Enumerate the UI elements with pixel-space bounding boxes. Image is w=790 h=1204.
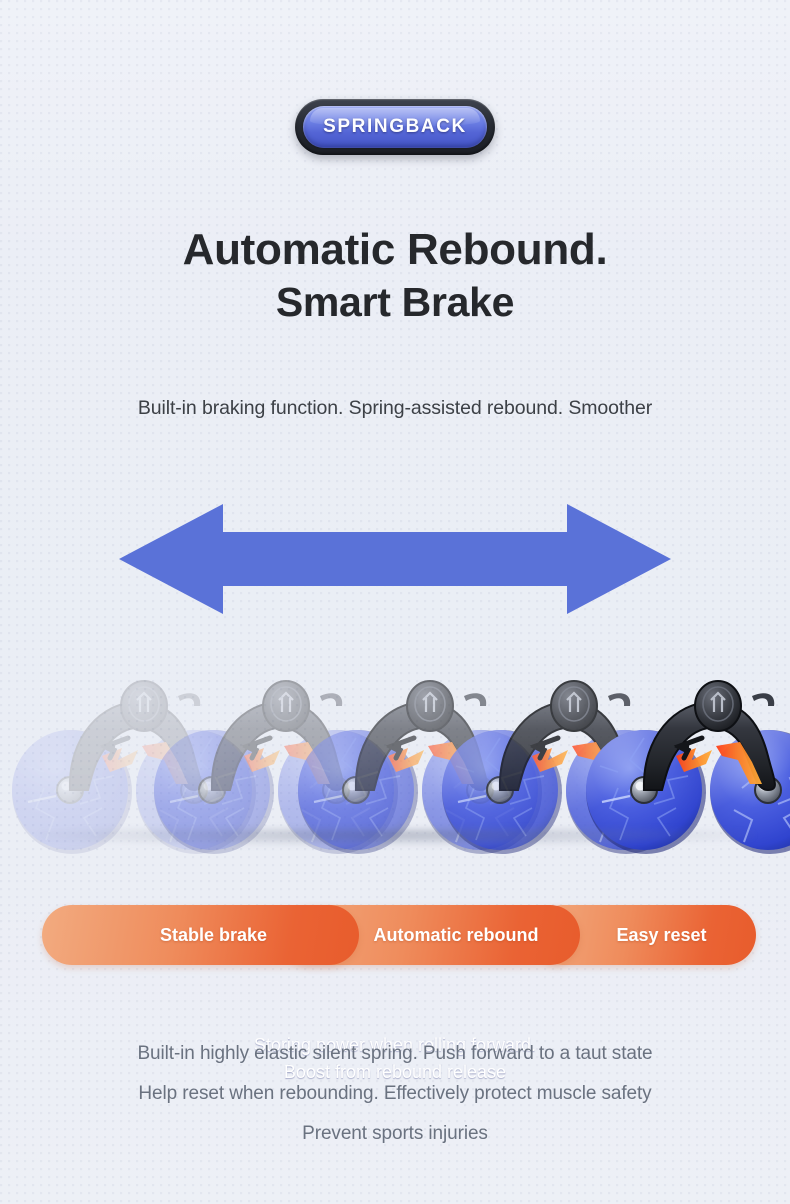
- ground-shadow: [40, 828, 754, 846]
- feature-pill-stable-brake[interactable]: Stable brake: [42, 905, 359, 965]
- arrow-banner: Storing power when rolling forward. Boos…: [0, 498, 790, 620]
- page-title: Automatic Rebound. Smart Brake: [0, 224, 790, 327]
- feature-pill-label: Stable brake: [134, 925, 267, 946]
- subtitle: Built-in braking function. Spring-assist…: [0, 397, 790, 420]
- brand-badge: SPRINGBACK: [0, 99, 790, 155]
- footer-line-1: Built-in highly elastic silent spring. P…: [0, 1034, 790, 1074]
- feature-pill-row: Easy reset Automatic rebound Stable brak…: [0, 905, 790, 969]
- badge-inner-pill: SPRINGBACK: [303, 106, 487, 148]
- feature-pill-label: Easy reset: [582, 925, 706, 946]
- double-arrow-icon: [119, 498, 671, 620]
- badge-label: SPRINGBACK: [323, 116, 467, 138]
- badge-outer-frame: SPRINGBACK: [295, 99, 495, 155]
- headline-line-2: Smart Brake: [0, 279, 790, 327]
- footer-description: Built-in highly elastic silent spring. P…: [0, 1034, 790, 1154]
- footer-line-2: Help reset when rebounding. Effectively …: [0, 1074, 790, 1114]
- footer-line-3: Prevent sports injuries: [0, 1114, 790, 1154]
- ab-roller-sequence-illustration: [0, 660, 790, 880]
- product-image: [0, 660, 790, 880]
- headline-line-1: Automatic Rebound.: [183, 225, 608, 274]
